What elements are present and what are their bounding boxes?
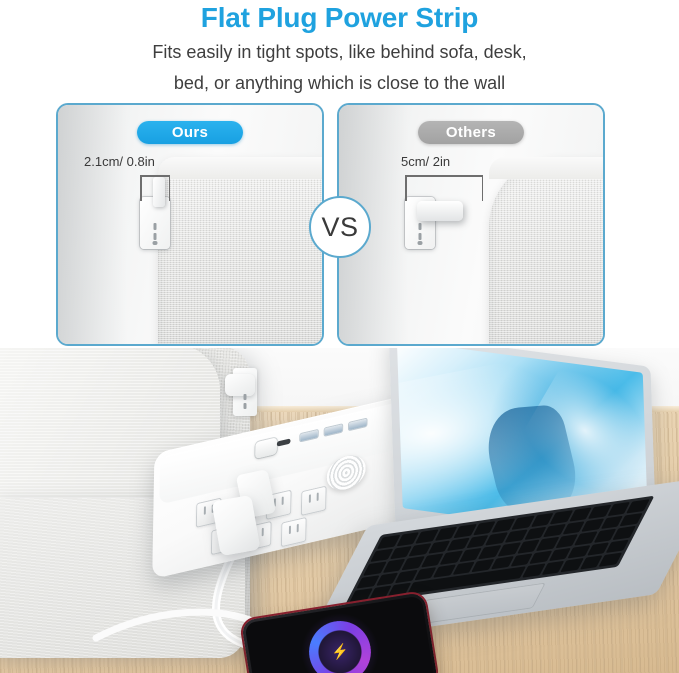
- measure-bar: [140, 175, 170, 177]
- comparison-panel-ours: 2.1cm/ 0.8in Ours: [56, 103, 324, 346]
- battery-bolt-icon: ⚡: [330, 642, 349, 661]
- measurement-label-ours: 2.1cm/ 0.8in: [84, 154, 155, 169]
- measure-tick-right: [169, 175, 171, 201]
- subtitle-line-2: bed, or anything which is close to the w…: [0, 66, 679, 97]
- sofa-top-edge: [158, 157, 324, 179]
- strip-outlet: [281, 517, 307, 548]
- keyboard-key: [613, 526, 636, 540]
- vs-badge: VS: [309, 196, 371, 258]
- measure-tick-right: [482, 175, 484, 201]
- flat-plug-icon: [153, 177, 165, 207]
- keyboard-key: [620, 513, 643, 527]
- sofa-ours: [158, 157, 324, 346]
- page-title: Flat Plug Power Strip: [0, 0, 679, 35]
- product-infographic: Flat Plug Power Strip Fits easily in tig…: [0, 0, 679, 673]
- keyboard-key: [606, 539, 629, 553]
- strip-outlet: [301, 485, 327, 516]
- header: Flat Plug Power Strip Fits easily in tig…: [0, 0, 679, 92]
- laptop: [352, 350, 679, 620]
- outlet-slot-upper: [154, 223, 157, 230]
- badge-others: Others: [418, 121, 524, 144]
- comparison-panel-others: 5cm/ 2in Others: [337, 103, 605, 346]
- outlet-ground-slot: [153, 241, 158, 245]
- comparison-section: 2.1cm/ 0.8in Ours: [56, 103, 624, 346]
- keyboard-key: [627, 499, 650, 513]
- outlet-slot-lower: [154, 233, 157, 240]
- subtitle-line-1: Fits easily in tight spots, like behind …: [0, 35, 679, 66]
- wall-shadow: [58, 105, 127, 344]
- product-photo: ⚡: [0, 348, 679, 673]
- measure-bar: [405, 175, 483, 177]
- badge-ours: Ours: [137, 121, 243, 144]
- measure-tick-left: [405, 175, 407, 201]
- measurement-label-others: 5cm/ 2in: [401, 154, 450, 169]
- measure-tick-left: [140, 175, 142, 201]
